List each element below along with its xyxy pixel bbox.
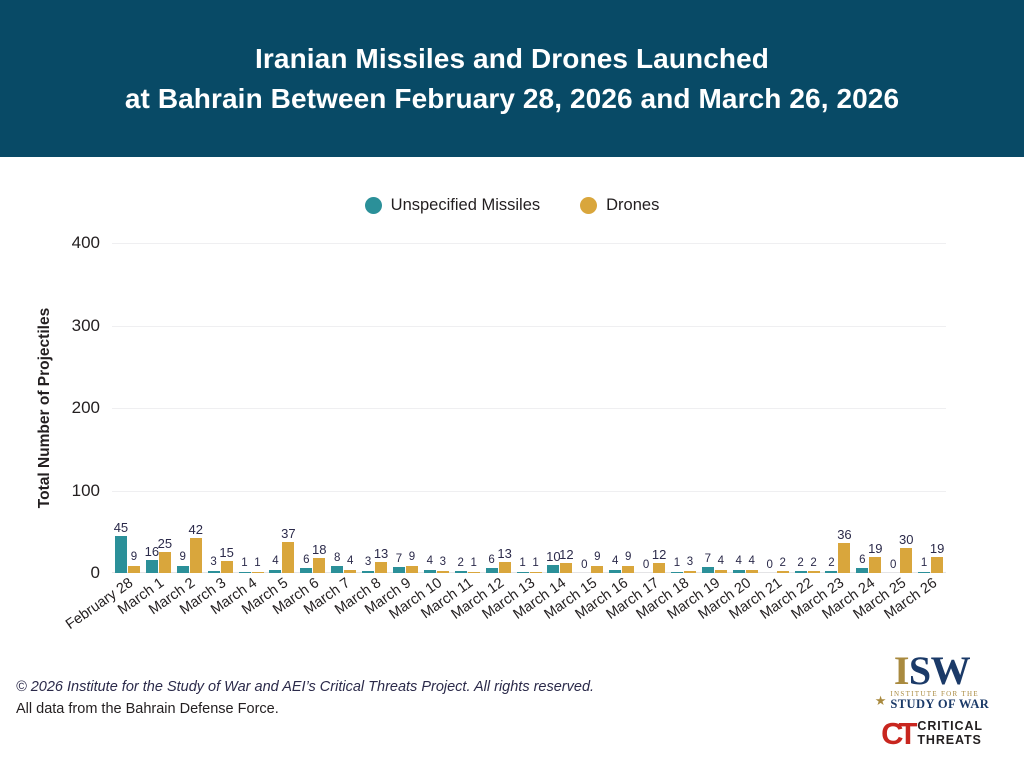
bar-drones[interactable] (653, 563, 665, 573)
bar-unspecified-missiles[interactable] (177, 566, 189, 573)
footer-source: All data from the Bahrain Defense Force. (16, 698, 776, 720)
bar-wrapper: 1 (517, 243, 529, 573)
bar-wrapper: 19 (869, 243, 881, 573)
bar-wrapper: 19 (931, 243, 943, 573)
bar-drones[interactable] (900, 548, 912, 573)
bar-value-label: 6 (488, 555, 494, 567)
x-axis-labels: February 28March 1March 2March 3March 4M… (112, 575, 946, 665)
ct-word-top: CRITICAL (917, 720, 983, 734)
bar-value-label: 45 (114, 521, 128, 534)
bar-wrapper: 37 (282, 243, 294, 573)
bar-wrapper: 16 (146, 243, 158, 573)
bar-unspecified-missiles[interactable] (486, 568, 498, 573)
legend-label: Drones (606, 196, 659, 215)
bar-drones[interactable] (437, 571, 449, 573)
legend-item-1[interactable]: Drones (580, 196, 659, 215)
bar-value-label: 2 (810, 558, 816, 570)
bar-wrapper: 4 (746, 243, 758, 573)
bar-wrapper: 15 (221, 243, 233, 573)
isw-logo: I SW ★ INSTITUTE FOR THE STUDY OF WAR (862, 652, 1002, 708)
bar-group: 030 (884, 243, 915, 573)
bar-unspecified-missiles[interactable] (547, 565, 559, 573)
bar-drones[interactable] (715, 570, 727, 573)
bar-group: 22 (792, 243, 823, 573)
bar-value-label: 9 (594, 552, 600, 564)
bar-wrapper: 2 (455, 243, 467, 573)
bar-wrapper: 1 (918, 243, 930, 573)
bar-wrapper: 3 (362, 243, 374, 573)
bar-drones[interactable] (344, 570, 356, 573)
bar-drones[interactable] (252, 572, 264, 574)
bar-wrapper: 18 (313, 243, 325, 573)
bar-group: 11 (236, 243, 267, 573)
bar-wrapper: 4 (424, 243, 436, 573)
bar-group: 236 (822, 243, 853, 573)
legend-item-0[interactable]: Unspecified Missiles (365, 196, 540, 215)
bar-value-label: 2 (797, 558, 803, 570)
bar-drones[interactable] (838, 543, 850, 573)
circle-dot-icon (365, 197, 382, 214)
bar-unspecified-missiles[interactable] (300, 568, 312, 573)
bar-value-label: 0 (890, 560, 896, 572)
bar-group: 11 (514, 243, 545, 573)
bar-value-label: 36 (837, 528, 851, 541)
bar-group: 613 (483, 243, 514, 573)
bar-drones[interactable] (684, 571, 696, 573)
bar-wrapper: 1 (530, 243, 542, 573)
bar-wrapper: 4 (733, 243, 745, 573)
bar-wrapper: 2 (777, 243, 789, 573)
page-title-line-1: Iranian Missiles and Drones Launched (255, 39, 769, 79)
bar-drones[interactable] (375, 562, 387, 573)
bar-value-label: 9 (625, 552, 631, 564)
bar-unspecified-missiles[interactable] (208, 571, 220, 573)
bar-wrapper: 2 (795, 243, 807, 573)
bar-wrapper: 36 (838, 243, 850, 573)
bar-wrapper: 1 (468, 243, 480, 573)
bar-wrapper: 0 (764, 243, 776, 573)
bar-unspecified-missiles[interactable] (146, 560, 158, 573)
bar-drones[interactable] (622, 566, 634, 573)
bar-group: 84 (328, 243, 359, 573)
bar-drones[interactable] (282, 542, 294, 573)
bar-value-label: 4 (272, 556, 278, 568)
bar-group: 942 (174, 243, 205, 573)
bar-value-label: 0 (766, 560, 772, 572)
bar-value-label: 6 (859, 555, 865, 567)
bar-wrapper: 30 (900, 243, 912, 573)
bar-unspecified-missiles[interactable] (825, 571, 837, 573)
bar-drones[interactable] (808, 571, 820, 573)
bar-wrapper: 4 (344, 243, 356, 573)
legend-label: Unspecified Missiles (391, 196, 540, 215)
bar-value-label: 0 (581, 560, 587, 572)
star-icon: ★ (875, 694, 887, 707)
footer-copyright: © 2026 Institute for the Study of War an… (16, 676, 776, 698)
ct-monogram-icon: CT (881, 718, 912, 749)
bar-drones[interactable] (159, 552, 171, 573)
bar-value-label: 1 (241, 558, 247, 570)
bar-value-label: 1 (519, 558, 525, 570)
bar-wrapper: 2 (808, 243, 820, 573)
bar-drones[interactable] (530, 572, 542, 574)
bar-value-label: 4 (612, 556, 618, 568)
bar-wrapper: 0 (887, 243, 899, 573)
bar-drones[interactable] (468, 572, 480, 574)
bar-wrapper: 3 (437, 243, 449, 573)
bar-unspecified-missiles[interactable] (239, 572, 251, 574)
bar-value-label: 4 (427, 556, 433, 568)
bar-wrapper: 6 (856, 243, 868, 573)
bar-wrapper: 25 (159, 243, 171, 573)
bar-drones[interactable] (221, 561, 233, 573)
bar-wrapper: 8 (331, 243, 343, 573)
bar-value-label: 8 (334, 553, 340, 565)
bar-value-label: 1 (674, 558, 680, 570)
bar-value-label: 15 (219, 546, 233, 559)
bar-value-label: 7 (705, 554, 711, 566)
bar-drones[interactable] (406, 566, 418, 573)
page-header: Iranian Missiles and Drones Launched at … (0, 0, 1024, 157)
y-tick-400: 400 (32, 233, 112, 253)
bar-value-label: 19 (930, 542, 944, 555)
bar-group: 79 (390, 243, 421, 573)
bar-value-label: 0 (643, 560, 649, 572)
chart-plot-area: 0100200300400 45916259423151143761884313… (112, 243, 946, 573)
bar-value-label: 3 (210, 557, 216, 569)
bar-value-label: 4 (347, 556, 353, 568)
bar-wrapper: 7 (393, 243, 405, 573)
logo-block: I SW ★ INSTITUTE FOR THE STUDY OF WAR CT… (862, 652, 1002, 756)
bar-wrapper: 3 (208, 243, 220, 573)
bar-wrapper: 7 (702, 243, 714, 573)
bar-group: 1625 (143, 243, 174, 573)
bar-group: 315 (205, 243, 236, 573)
circle-dot-icon (580, 197, 597, 214)
bar-wrapper: 0 (578, 243, 590, 573)
bar-drones[interactable] (777, 571, 789, 573)
bar-wrapper: 9 (406, 243, 418, 573)
bar-value-label: 1 (921, 558, 927, 570)
bar-value-label: 9 (409, 552, 415, 564)
bar-group: 21 (452, 243, 483, 573)
bar-group: 09 (575, 243, 606, 573)
bar-unspecified-missiles[interactable] (671, 572, 683, 574)
bar-value-label: 4 (749, 556, 755, 568)
bar-value-label: 18 (312, 543, 326, 556)
bar-value-label: 13 (497, 547, 511, 560)
bar-drones[interactable] (931, 557, 943, 573)
bar-group: 619 (853, 243, 884, 573)
bar-unspecified-missiles[interactable] (918, 572, 930, 574)
bar-unspecified-missiles[interactable] (733, 570, 745, 573)
bar-wrapper: 0 (640, 243, 652, 573)
bar-value-label: 30 (899, 533, 913, 546)
bar-value-label: 3 (687, 557, 693, 569)
bar-wrapper: 9 (128, 243, 140, 573)
isw-subtitle-text: INSTITUTE FOR THE STUDY OF WAR (890, 691, 989, 711)
bar-value-label: 42 (188, 523, 202, 536)
bar-groups: 4591625942315114376188431379432161311101… (112, 243, 946, 573)
bar-value-label: 1 (532, 558, 538, 570)
isw-initial: I (894, 652, 909, 690)
bar-wrapper: 6 (486, 243, 498, 573)
bar-wrapper: 6 (300, 243, 312, 573)
bar-value-label: 1 (471, 558, 477, 570)
bar-wrapper: 1 (252, 243, 264, 573)
bar-value-label: 3 (440, 557, 446, 569)
bar-value-label: 1 (254, 558, 260, 570)
bar-value-label: 2 (458, 558, 464, 570)
y-tick-100: 100 (32, 481, 112, 501)
bar-group: 119 (915, 243, 946, 573)
isw-wordmark: I SW (862, 652, 1002, 690)
bar-wrapper: 4 (609, 243, 621, 573)
bar-drones[interactable] (128, 566, 140, 573)
y-tick-0: 0 (32, 563, 112, 583)
bar-value-label: 13 (374, 547, 388, 560)
bar-wrapper: 2 (825, 243, 837, 573)
bar-drones[interactable] (560, 563, 572, 573)
bar-group: 49 (606, 243, 637, 573)
critical-threats-logo: CT CRITICAL THREATS (862, 718, 1002, 749)
ct-wordmark: CRITICAL THREATS (917, 720, 983, 747)
bar-group: 313 (359, 243, 390, 573)
bar-value-label: 4 (718, 556, 724, 568)
y-tick-300: 300 (32, 316, 112, 336)
chart-page: Iranian Missiles and Drones Launched at … (0, 0, 1024, 768)
bar-wrapper: 42 (190, 243, 202, 573)
bar-unspecified-missiles[interactable] (795, 571, 807, 573)
isw-subtitle: ★ INSTITUTE FOR THE STUDY OF WAR (862, 691, 1002, 711)
bar-wrapper: 12 (653, 243, 665, 573)
bar-wrapper: 9 (622, 243, 634, 573)
bar-drones[interactable] (499, 562, 511, 573)
bar-value-label: 9 (131, 552, 137, 564)
bar-unspecified-missiles[interactable] (269, 570, 281, 573)
bar-drones[interactable] (746, 570, 758, 573)
isw-subtitle-bottom: STUDY OF WAR (890, 698, 989, 711)
bar-drones[interactable] (313, 558, 325, 573)
bar-group: 1012 (544, 243, 575, 573)
bar-value-label: 6 (303, 555, 309, 567)
bar-value-label: 2 (828, 558, 834, 570)
bar-unspecified-missiles[interactable] (393, 567, 405, 573)
bar-group: 02 (761, 243, 792, 573)
bar-value-label: 12 (652, 548, 666, 561)
bar-wrapper: 9 (177, 243, 189, 573)
bar-unspecified-missiles[interactable] (517, 572, 529, 574)
bar-value-label: 2 (779, 558, 785, 570)
bar-group: 012 (637, 243, 668, 573)
bar-group: 618 (297, 243, 328, 573)
bar-value-label: 4 (736, 556, 742, 568)
bar-unspecified-missiles[interactable] (362, 571, 374, 573)
bar-unspecified-missiles[interactable] (856, 568, 868, 573)
bar-wrapper: 9 (591, 243, 603, 573)
bar-wrapper: 45 (115, 243, 127, 573)
bar-value-label: 7 (396, 554, 402, 566)
bar-value-label: 37 (281, 527, 295, 540)
bar-value-label: 25 (158, 537, 172, 550)
y-tick-200: 200 (32, 398, 112, 418)
bar-drones[interactable] (869, 557, 881, 573)
bar-unspecified-missiles[interactable] (455, 571, 467, 573)
bar-wrapper: 4 (269, 243, 281, 573)
chart-legend: Unspecified MissilesDrones (0, 196, 1024, 215)
bar-wrapper: 4 (715, 243, 727, 573)
bar-group: 43 (421, 243, 452, 573)
page-title-line-2: at Bahrain Between February 28, 2026 and… (125, 79, 899, 119)
bar-unspecified-missiles[interactable] (702, 567, 714, 573)
bar-group: 459 (112, 243, 143, 573)
ct-word-bottom: THREATS (917, 734, 983, 748)
bar-wrapper: 1 (239, 243, 251, 573)
bar-group: 437 (266, 243, 297, 573)
bar-value-label: 9 (180, 552, 186, 564)
bar-unspecified-missiles[interactable] (331, 566, 343, 573)
bar-wrapper: 13 (375, 243, 387, 573)
bar-wrapper: 13 (499, 243, 511, 573)
bar-wrapper: 1 (671, 243, 683, 573)
bar-group: 74 (699, 243, 730, 573)
footer: © 2026 Institute for the Study of War an… (16, 676, 776, 721)
bar-value-label: 3 (365, 557, 371, 569)
bar-wrapper: 10 (547, 243, 559, 573)
bar-unspecified-missiles[interactable] (115, 536, 127, 573)
bar-value-label: 19 (868, 542, 882, 555)
bar-unspecified-missiles[interactable] (424, 570, 436, 573)
bar-drones[interactable] (190, 538, 202, 573)
bar-drones[interactable] (591, 566, 603, 573)
bar-group: 44 (730, 243, 761, 573)
bar-wrapper: 3 (684, 243, 696, 573)
bar-wrapper: 12 (560, 243, 572, 573)
bar-unspecified-missiles[interactable] (609, 570, 621, 573)
bar-value-label: 12 (559, 548, 573, 561)
isw-rest: SW (909, 652, 970, 690)
bar-group: 13 (668, 243, 699, 573)
